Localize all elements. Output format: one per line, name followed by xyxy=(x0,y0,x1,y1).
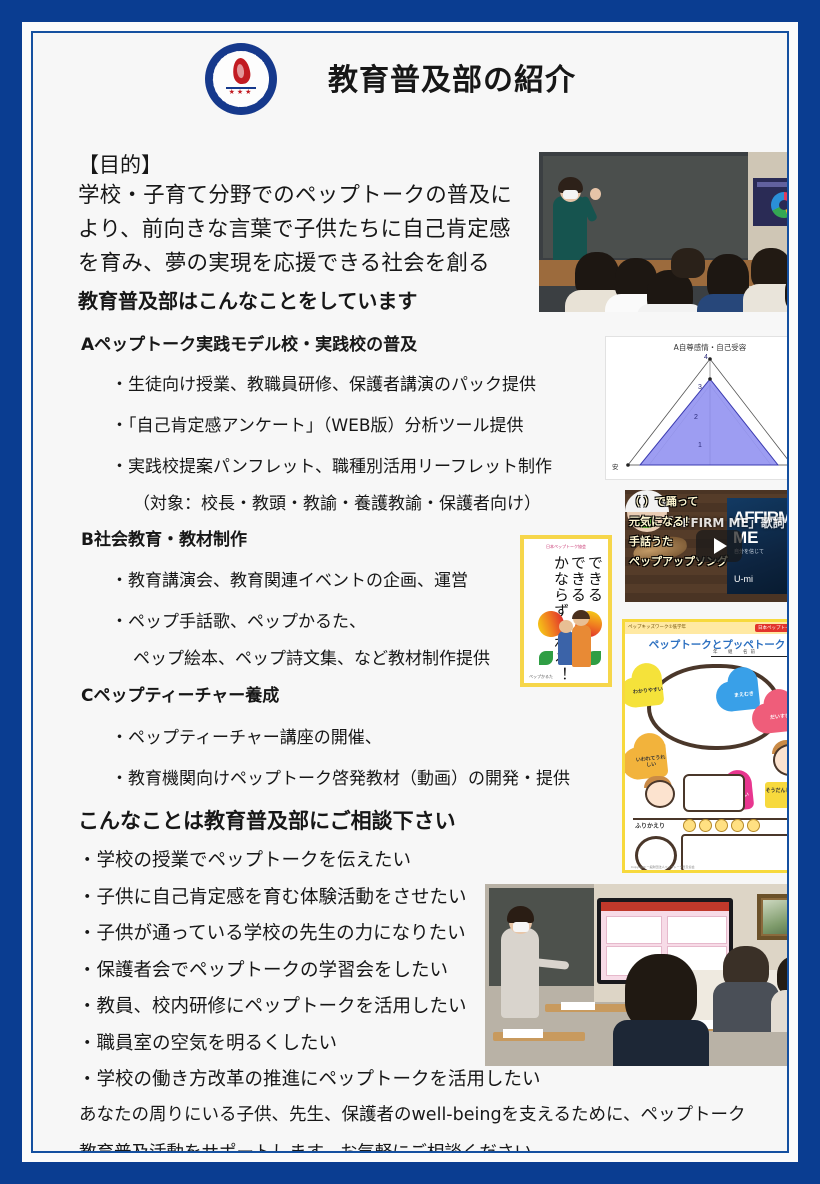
pep-karuta-card: 日本ペップトーク協会 できる できる かならずおわる！ ペップかるた xyxy=(520,535,612,687)
mood-face-icon xyxy=(683,819,696,832)
flame-icon xyxy=(231,57,251,85)
heart-tag: いわれてうれしい xyxy=(633,744,668,779)
closing-line: あなたの周りにいる子供、先生、保護者のwell-beingを支えるために、ペップ… xyxy=(79,1096,789,1134)
section-b-note: ペップ絵本、ペップ詩文集、など教材制作提供 xyxy=(133,644,490,669)
lead-statement: 教育普及部はこんなことをしています xyxy=(78,285,417,314)
handout-paper xyxy=(503,1029,543,1038)
painting-canvas xyxy=(763,900,789,934)
consult-item: ・子供に自己肯定感を育む体験活動をさせたい xyxy=(78,880,541,917)
radar-svg: 4 3 2 1 I 安 xyxy=(606,347,789,477)
consult-heading: こんなことは教育普及部にご相談下さい xyxy=(78,805,456,835)
mood-face-icon xyxy=(699,819,712,832)
child-head xyxy=(559,620,573,633)
page-content: JAPAN PEPTALKASSOCIATION ★★★ 教育普及部の紹介 【目… xyxy=(31,31,789,1153)
karuta-brand: 日本ペップトーク協会 xyxy=(524,544,608,550)
page-margin: JAPAN PEPTALKASSOCIATION ★★★ 教育普及部の紹介 【目… xyxy=(22,22,798,1162)
section-c-item: ・ペップティーチャー講座の開催、 xyxy=(111,723,382,748)
heart-label: まえむき xyxy=(734,691,755,699)
consult-item: ・教員、校内研修にペップトークを活用したい xyxy=(78,989,541,1026)
mood-face-icon xyxy=(715,819,728,832)
section-a-note: （対象：校長・教頭・教諭・養護教諭・保護者向け） xyxy=(133,489,541,514)
purpose-body: 学校・子育て分野でのペップトークの普及に より、前向きな言葉で子供たちに自己肯定… xyxy=(78,179,543,281)
purpose-label: 【目的】 xyxy=(78,149,162,179)
closing-paragraph: あなたの周りにいる子供、先生、保護者のwell-beingを支えるために、ペップ… xyxy=(79,1096,789,1153)
section-a-item: ・「自己肯定感アンケート」（WEB版）分析ツール提供 xyxy=(111,411,524,436)
worksheet-badge: 日本ペップトーク協会 xyxy=(755,624,789,632)
purpose-line: を育み、夢の実現を応援できる社会を創る xyxy=(78,247,543,281)
self-esteem-radar-chart: A自尊感情・自己受容 4 3 2 1 I 安 xyxy=(605,336,789,480)
association-logo-icon: JAPAN PEPTALKASSOCIATION ★★★ xyxy=(205,43,277,115)
karuta-footer: ペップかるた xyxy=(529,674,553,680)
consult-item: ・学校の授業でペップトークを伝えたい xyxy=(78,843,541,880)
slide-card xyxy=(606,916,662,944)
worksheet-series-label: ペップキッズワーク①低学年 xyxy=(628,624,686,630)
consult-item: ・職員室の空気を明るくしたい xyxy=(78,1026,541,1063)
slide-card xyxy=(667,916,727,944)
worksheet-field-label: 年 組 名前 xyxy=(713,649,758,655)
leaf-left xyxy=(539,651,553,665)
mood-face-scale xyxy=(683,819,760,832)
adult-figure xyxy=(572,625,591,667)
participant-torso xyxy=(613,1020,709,1066)
purpose-line: 学校・子育て分野でのペップトークの普及に xyxy=(78,179,543,213)
consult-item: ・保護者会でペップトークの学習会をしたい xyxy=(78,953,541,990)
heart-label: わかりやすい xyxy=(633,686,663,695)
presenter-hand xyxy=(590,188,601,200)
section-c-item: ・教育機関向けペップトーク啓発教材（動画）の開発・提供 xyxy=(111,764,570,789)
section-a-item: ・生徒向け授業、教職員研修、保護者講演のパック提供 xyxy=(111,370,536,395)
consult-item: ・子供が通っている学校の先生の力になりたい xyxy=(78,916,541,953)
pep-kids-worksheet: ペップキッズワーク①低学年 日本ペップトーク協会 ペップトークとプッペトーク 年… xyxy=(622,619,789,873)
workshop-photo xyxy=(485,884,789,1066)
section-a-heading: Aペップトーク実践モデル校・実践校の普及 xyxy=(81,330,417,355)
heart-tag: だいすき xyxy=(764,701,789,734)
student-torso xyxy=(743,284,789,312)
worksheet-title: ペップトークとプッペトーク xyxy=(625,637,789,652)
mood-face-icon xyxy=(731,819,744,832)
heart-label: いわれてうれしい xyxy=(634,754,667,769)
presenter-body xyxy=(501,928,539,1018)
reflection-label: ふりかえり xyxy=(635,821,665,830)
presenter-face-mask xyxy=(513,922,529,932)
logo-stars: ★★★ xyxy=(229,89,254,97)
page-title: 教育普及部の紹介 xyxy=(328,55,576,99)
consult-list: ・学校の授業でペップトークを伝えたい ・子供に自己肯定感を育む体験活動をさせたい… xyxy=(78,843,541,1099)
classroom-lecture-photo xyxy=(539,152,789,312)
consult-item: ・学校の働き方改革の推進にペップトークを活用したい xyxy=(78,1062,541,1099)
participant-torso xyxy=(713,982,779,1032)
student-torso xyxy=(637,304,703,312)
heart-tag: まえむき xyxy=(728,679,761,712)
mood-face-icon xyxy=(747,819,760,832)
section-b-heading: B社会教育・教材制作 xyxy=(81,525,247,550)
heart-label: だいすき xyxy=(770,713,789,721)
svg-text:安: 安 xyxy=(612,462,619,471)
secondary-speech-bubble xyxy=(683,774,745,812)
slide-title-bar xyxy=(757,182,789,187)
section-c-heading: Cペップティーチャー養成 xyxy=(81,681,279,706)
section-b-item: ・ペップ手話歌、ペップかるた、 xyxy=(111,607,366,632)
heart-tag: わかりやすい xyxy=(632,675,665,708)
framed-painting xyxy=(757,894,789,940)
presenter-face-mask xyxy=(563,190,578,199)
youtube-video-thumbnail[interactable]: AFFIRM ME 自分を信じて U-mi 「AFFIRM ME」歌詞 （ ）で… xyxy=(625,490,789,602)
caption-line: 元気になる！ xyxy=(629,512,779,532)
section-a-item: ・実践校提案パンフレット、職種別活用リーフレット制作 xyxy=(111,452,552,477)
handout-paper xyxy=(561,1002,595,1010)
poster-page: JAPAN PEPTALKASSOCIATION ★★★ 教育普及部の紹介 【目… xyxy=(0,0,820,1184)
worksheet-name-rule xyxy=(711,656,789,657)
page-header: JAPAN PEPTALKASSOCIATION ★★★ 教育普及部の紹介 xyxy=(33,41,787,117)
section-b-item: ・教育講演会、教育関連イベントの企画、運営 xyxy=(111,566,468,591)
poster-artist: U-mi xyxy=(734,574,753,584)
karuta-illustration xyxy=(538,607,602,667)
svg-text:2: 2 xyxy=(694,414,698,421)
svg-text:4: 4 xyxy=(704,354,708,361)
slide-pie-graphic xyxy=(771,192,789,218)
answer-box xyxy=(681,834,789,872)
closing-line: 教育普及活動をサポートします。お気軽にご相談ください。 xyxy=(79,1134,789,1153)
svg-text:1: 1 xyxy=(698,442,702,449)
logo-inner: ★★★ xyxy=(213,51,269,107)
worksheet-footer: Copyright 一般財団法人ペップトーク普及協会 xyxy=(631,865,695,869)
student-head xyxy=(671,248,705,278)
participant-head xyxy=(625,954,697,1030)
projection-screen xyxy=(753,178,789,226)
participant-torso xyxy=(771,990,789,1032)
caption-line: （ ）で踊って xyxy=(629,492,779,512)
play-icon[interactable] xyxy=(696,530,742,562)
slide-title-bar xyxy=(601,902,729,911)
svg-text:3: 3 xyxy=(698,384,702,391)
sad-child-face xyxy=(645,780,675,808)
purpose-line: より、前向きな言葉で子供たちに自己肯定感 xyxy=(78,213,543,247)
action-box: そうだんしよう xyxy=(765,782,789,808)
